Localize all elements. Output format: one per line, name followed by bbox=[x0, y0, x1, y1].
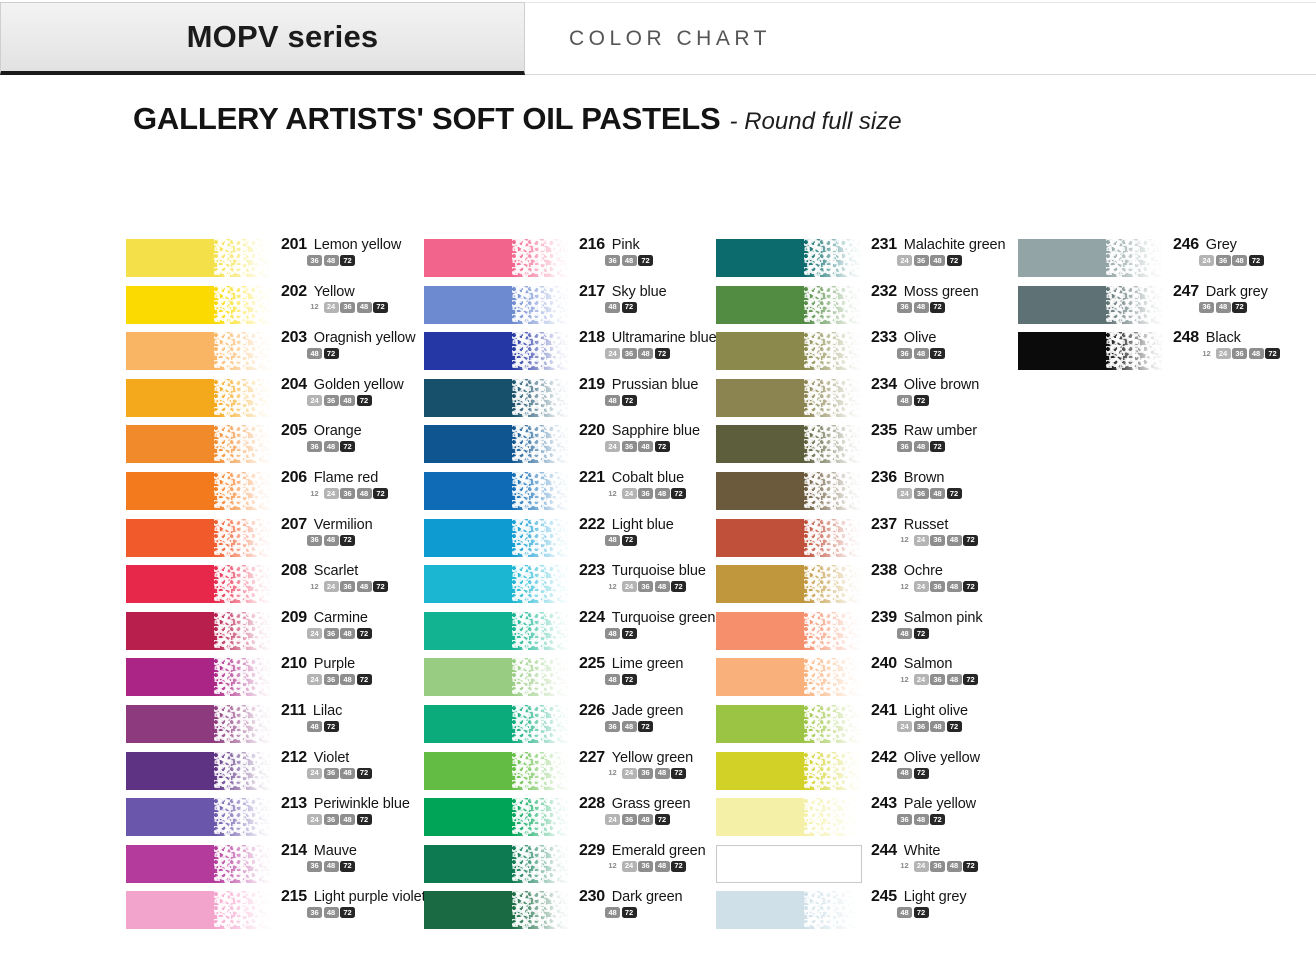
color-code: 222 bbox=[579, 516, 605, 534]
color-swatch bbox=[424, 519, 570, 557]
set-badge-72: 72 bbox=[340, 535, 355, 546]
set-badge-72: 72 bbox=[930, 302, 945, 313]
set-badge-48: 48 bbox=[897, 907, 912, 918]
set-size-badges: 1224364872 bbox=[871, 674, 1041, 685]
set-badge-24: 24 bbox=[897, 255, 912, 266]
set-badge-72: 72 bbox=[671, 861, 686, 872]
color-swatch bbox=[716, 472, 862, 510]
color-row[interactable]: 203Oragnish yellow4872 bbox=[126, 329, 426, 376]
color-row[interactable]: 221Cobalt blue1224364872 bbox=[424, 469, 724, 516]
color-row[interactable]: 220Sapphire blue24364872 bbox=[424, 422, 724, 469]
color-row[interactable]: 219Prussian blue4872 bbox=[424, 376, 724, 423]
color-meta: 243Pale yellow364872 bbox=[871, 795, 1041, 825]
color-row[interactable]: 235Raw umber364872 bbox=[716, 422, 1016, 469]
color-code: 242 bbox=[871, 749, 897, 767]
color-code: 215 bbox=[281, 888, 307, 906]
color-swatch bbox=[1018, 286, 1164, 324]
color-swatch bbox=[126, 612, 272, 650]
color-row[interactable]: 218Ultramarine blue24364872 bbox=[424, 329, 724, 376]
color-name: Raw umber bbox=[904, 423, 977, 439]
color-name: Oragnish yellow bbox=[314, 330, 416, 346]
color-row[interactable]: 244White1224364872 bbox=[716, 842, 1016, 889]
set-badge-36: 36 bbox=[1199, 302, 1214, 313]
color-swatch bbox=[126, 286, 272, 324]
color-row[interactable]: 205Orange364872 bbox=[126, 422, 426, 469]
set-badge-72: 72 bbox=[622, 302, 637, 313]
color-row[interactable]: 246Grey24364872 bbox=[1018, 236, 1316, 283]
set-badge-48: 48 bbox=[357, 581, 372, 592]
color-code: 210 bbox=[281, 655, 307, 673]
color-name: Lemon yellow bbox=[314, 237, 401, 253]
set-badge-36: 36 bbox=[307, 535, 322, 546]
color-name: Yellow green bbox=[612, 750, 693, 766]
set-badge-48: 48 bbox=[914, 302, 929, 313]
color-row[interactable]: 245Light grey4872 bbox=[716, 888, 1016, 935]
color-name: Turquoise blue bbox=[612, 563, 706, 579]
set-badge-48: 48 bbox=[605, 302, 620, 313]
color-swatch bbox=[126, 519, 272, 557]
set-badge-36: 36 bbox=[605, 255, 620, 266]
color-swatch bbox=[716, 519, 862, 557]
color-meta: 236Brown24364872 bbox=[871, 469, 1041, 499]
color-title-line: 237Russet bbox=[871, 516, 1041, 534]
set-size-badges: 1224364872 bbox=[871, 535, 1041, 546]
color-name: Sky blue bbox=[612, 284, 667, 300]
color-row[interactable]: 247Dark grey364872 bbox=[1018, 283, 1316, 330]
swatch-stipple-edge bbox=[214, 565, 272, 603]
color-row[interactable]: 201Lemon yellow364872 bbox=[126, 236, 426, 283]
set-badge-36: 36 bbox=[638, 581, 653, 592]
color-row[interactable]: 242Olive yellow4872 bbox=[716, 749, 1016, 796]
color-title-line: 244White bbox=[871, 842, 1041, 860]
color-swatch bbox=[716, 845, 862, 883]
tab-mopv-series[interactable]: MOPV series bbox=[0, 2, 525, 75]
set-badge-72: 72 bbox=[340, 907, 355, 918]
color-row[interactable]: 215Light purple violet364872 bbox=[126, 888, 426, 935]
set-badge-48: 48 bbox=[324, 861, 339, 872]
set-badge-24: 24 bbox=[605, 441, 620, 452]
set-badge-48: 48 bbox=[1249, 348, 1264, 359]
set-badge-36: 36 bbox=[340, 302, 355, 313]
color-row[interactable]: 226Jade green364872 bbox=[424, 702, 724, 749]
set-badge-72: 72 bbox=[622, 674, 637, 685]
set-badge-72: 72 bbox=[1232, 302, 1247, 313]
tab-color-chart[interactable]: COLOR CHART bbox=[525, 2, 1316, 75]
set-badge-48: 48 bbox=[605, 395, 620, 406]
set-badge-72: 72 bbox=[963, 535, 978, 546]
set-size-badges: 4872 bbox=[871, 768, 1041, 779]
color-swatch bbox=[716, 798, 862, 836]
color-row[interactable]: 237Russet1224364872 bbox=[716, 516, 1016, 563]
swatch-stipple-edge bbox=[214, 379, 272, 417]
color-swatch bbox=[424, 425, 570, 463]
set-badge-36: 36 bbox=[914, 721, 929, 732]
set-badge-36: 36 bbox=[638, 768, 653, 779]
set-badge-48: 48 bbox=[357, 488, 372, 499]
color-swatch bbox=[716, 891, 862, 929]
color-swatch bbox=[126, 798, 272, 836]
swatch-stipple-edge bbox=[512, 845, 570, 883]
color-swatch bbox=[716, 565, 862, 603]
set-size-badges: 364872 bbox=[871, 814, 1041, 825]
set-badge-48: 48 bbox=[947, 535, 962, 546]
color-row[interactable]: 216Pink364872 bbox=[424, 236, 724, 283]
swatch-stipple-edge bbox=[804, 752, 862, 790]
color-code: 244 bbox=[871, 842, 897, 860]
color-row[interactable]: 227Yellow green1224364872 bbox=[424, 749, 724, 796]
set-badge-48: 48 bbox=[1232, 255, 1247, 266]
set-badge-72: 72 bbox=[947, 255, 962, 266]
set-badge-72: 72 bbox=[622, 395, 637, 406]
set-badge-36: 36 bbox=[307, 861, 322, 872]
color-name: Lilac bbox=[313, 703, 342, 719]
set-badge-36: 36 bbox=[897, 441, 912, 452]
color-code: 241 bbox=[871, 702, 897, 720]
color-row[interactable]: 209Carmine24364872 bbox=[126, 609, 426, 656]
set-badge-36: 36 bbox=[1216, 255, 1231, 266]
swatch-stipple-edge bbox=[214, 752, 272, 790]
color-meta: 244White1224364872 bbox=[871, 842, 1041, 872]
tab-color-chart-label: COLOR CHART bbox=[525, 27, 771, 51]
set-badge-72: 72 bbox=[671, 488, 686, 499]
color-row[interactable]: 236Brown24364872 bbox=[716, 469, 1016, 516]
color-row[interactable]: 223Turquoise blue1224364872 bbox=[424, 562, 724, 609]
color-swatch bbox=[424, 565, 570, 603]
color-swatch bbox=[126, 379, 272, 417]
set-badge-48: 48 bbox=[605, 907, 620, 918]
color-swatch bbox=[424, 379, 570, 417]
set-badge-48: 48 bbox=[605, 535, 620, 546]
set-badge-24: 24 bbox=[914, 861, 929, 872]
color-row[interactable]: 231Malachite green24364872 bbox=[716, 236, 1016, 283]
set-badge-72: 72 bbox=[963, 581, 978, 592]
set-badge-36: 36 bbox=[930, 581, 945, 592]
color-code: 211 bbox=[281, 702, 306, 720]
set-size-badges: 1224364872 bbox=[1173, 348, 1316, 359]
set-badge-72: 72 bbox=[357, 674, 372, 685]
swatch-stipple-edge bbox=[214, 658, 272, 696]
color-swatch bbox=[424, 845, 570, 883]
color-swatch bbox=[126, 425, 272, 463]
set-size-badges: 4872 bbox=[871, 395, 1041, 406]
color-code: 223 bbox=[579, 562, 605, 580]
color-row[interactable]: 224Turquoise green4872 bbox=[424, 609, 724, 656]
color-meta: 232Moss green364872 bbox=[871, 283, 1041, 313]
set-badge-48: 48 bbox=[605, 674, 620, 685]
swatch-stipple-edge bbox=[214, 519, 272, 557]
color-code: 203 bbox=[281, 329, 307, 347]
set-badge-72: 72 bbox=[930, 441, 945, 452]
set-size-badges: 364872 bbox=[1173, 302, 1316, 313]
color-name: Pale yellow bbox=[904, 796, 976, 812]
set-badge-72: 72 bbox=[324, 721, 339, 732]
color-swatch bbox=[716, 332, 862, 370]
set-badge-72: 72 bbox=[324, 348, 339, 359]
page-title: GALLERY ARTISTS' SOFT OIL PASTELS - Roun… bbox=[133, 101, 1233, 145]
color-name: Malachite green bbox=[904, 237, 1006, 253]
swatch-stipple-edge bbox=[804, 891, 862, 929]
color-row[interactable]: 230Dark green4872 bbox=[424, 888, 724, 935]
set-badge-12: 12 bbox=[897, 861, 912, 872]
set-badge-36: 36 bbox=[930, 674, 945, 685]
color-code: 230 bbox=[579, 888, 605, 906]
swatch-stipple-edge bbox=[1106, 332, 1164, 370]
color-meta: 239Salmon pink4872 bbox=[871, 609, 1041, 639]
set-badge-36: 36 bbox=[605, 721, 620, 732]
color-name: Mauve bbox=[314, 843, 357, 859]
color-swatch bbox=[424, 658, 570, 696]
set-badge-36: 36 bbox=[307, 441, 322, 452]
set-badge-72: 72 bbox=[622, 907, 637, 918]
color-code: 239 bbox=[871, 609, 897, 627]
color-name: Emerald green bbox=[612, 843, 706, 859]
color-meta: 246Grey24364872 bbox=[1173, 236, 1316, 266]
color-row[interactable]: 213Periwinkle blue24364872 bbox=[126, 795, 426, 842]
color-row[interactable]: 214Mauve364872 bbox=[126, 842, 426, 889]
color-title-line: 247Dark grey bbox=[1173, 283, 1316, 301]
color-row[interactable]: 241Light olive24364872 bbox=[716, 702, 1016, 749]
set-size-badges: 364872 bbox=[871, 302, 1041, 313]
color-row[interactable]: 229Emerald green1224364872 bbox=[424, 842, 724, 889]
set-badge-36: 36 bbox=[340, 581, 355, 592]
color-meta: 233Olive364872 bbox=[871, 329, 1041, 359]
color-row[interactable]: 243Pale yellow364872 bbox=[716, 795, 1016, 842]
set-badge-36: 36 bbox=[914, 255, 929, 266]
color-name: Vermilion bbox=[314, 517, 373, 533]
color-swatch bbox=[126, 565, 272, 603]
set-badge-24: 24 bbox=[324, 488, 339, 499]
color-code: 219 bbox=[579, 376, 605, 394]
color-code: 217 bbox=[579, 283, 605, 301]
color-row[interactable]: 238Ochre1224364872 bbox=[716, 562, 1016, 609]
color-row[interactable]: 248Black1224364872 bbox=[1018, 329, 1316, 376]
color-row[interactable]: 228Grass green24364872 bbox=[424, 795, 724, 842]
color-name: Olive brown bbox=[904, 377, 979, 393]
set-badge-12: 12 bbox=[605, 861, 620, 872]
color-name: Cobalt blue bbox=[612, 470, 684, 486]
set-badge-48: 48 bbox=[622, 721, 637, 732]
color-swatch bbox=[424, 612, 570, 650]
set-badge-72: 72 bbox=[373, 302, 388, 313]
color-row[interactable]: 204Golden yellow24364872 bbox=[126, 376, 426, 423]
color-row[interactable]: 206Flame red1224364872 bbox=[126, 469, 426, 516]
swatch-stipple-edge bbox=[804, 705, 862, 743]
set-badge-48: 48 bbox=[324, 255, 339, 266]
set-badge-48: 48 bbox=[638, 441, 653, 452]
color-row[interactable]: 210Purple24364872 bbox=[126, 655, 426, 702]
set-badge-72: 72 bbox=[373, 581, 388, 592]
set-badge-72: 72 bbox=[373, 488, 388, 499]
color-name: Light grey bbox=[904, 889, 967, 905]
color-name: Light blue bbox=[612, 517, 674, 533]
color-name: Violet bbox=[314, 750, 349, 766]
swatch-stipple-edge bbox=[214, 286, 272, 324]
set-badge-48: 48 bbox=[655, 861, 670, 872]
color-meta: 237Russet1224364872 bbox=[871, 516, 1041, 546]
color-swatch bbox=[716, 425, 862, 463]
set-badge-48: 48 bbox=[655, 768, 670, 779]
set-size-badges: 4872 bbox=[871, 628, 1041, 639]
set-badge-72: 72 bbox=[638, 255, 653, 266]
color-code: 218 bbox=[579, 329, 605, 347]
color-row[interactable]: 211Lilac4872 bbox=[126, 702, 426, 749]
set-badge-12: 12 bbox=[605, 581, 620, 592]
set-badge-48: 48 bbox=[340, 768, 355, 779]
color-code: 233 bbox=[871, 329, 897, 347]
color-code: 225 bbox=[579, 655, 605, 673]
color-name: Brown bbox=[904, 470, 945, 486]
set-badge-12: 12 bbox=[307, 581, 322, 592]
set-badge-12: 12 bbox=[605, 768, 620, 779]
color-row[interactable]: 239Salmon pink4872 bbox=[716, 609, 1016, 656]
color-code: 238 bbox=[871, 562, 897, 580]
set-badge-24: 24 bbox=[1216, 348, 1231, 359]
set-size-badges: 24364872 bbox=[1173, 255, 1316, 266]
color-name: Light olive bbox=[904, 703, 968, 719]
set-badge-48: 48 bbox=[307, 348, 322, 359]
set-badge-12: 12 bbox=[897, 535, 912, 546]
set-size-badges: 4872 bbox=[871, 907, 1041, 918]
color-swatch bbox=[126, 845, 272, 883]
set-badge-24: 24 bbox=[897, 488, 912, 499]
set-badge-36: 36 bbox=[324, 395, 339, 406]
color-row[interactable]: 202Yellow1224364872 bbox=[126, 283, 426, 330]
set-badge-36: 36 bbox=[324, 814, 339, 825]
color-meta: 248Black1224364872 bbox=[1173, 329, 1316, 359]
color-name: Sapphire blue bbox=[612, 423, 700, 439]
swatch-stipple-edge bbox=[512, 379, 570, 417]
color-code: 209 bbox=[281, 609, 307, 627]
swatch-stipple-edge bbox=[804, 472, 862, 510]
color-row[interactable]: 233Olive364872 bbox=[716, 329, 1016, 376]
color-code: 240 bbox=[871, 655, 897, 673]
set-badge-36: 36 bbox=[340, 488, 355, 499]
color-meta: 247Dark grey364872 bbox=[1173, 283, 1316, 313]
set-badge-36: 36 bbox=[622, 814, 637, 825]
set-badge-72: 72 bbox=[340, 441, 355, 452]
set-badge-72: 72 bbox=[638, 721, 653, 732]
set-badge-72: 72 bbox=[1265, 348, 1280, 359]
set-badge-24: 24 bbox=[622, 581, 637, 592]
color-row[interactable]: 240Salmon1224364872 bbox=[716, 655, 1016, 702]
set-badge-12: 12 bbox=[1199, 348, 1214, 359]
color-name: Flame red bbox=[314, 470, 378, 486]
set-badge-36: 36 bbox=[930, 535, 945, 546]
set-badge-48: 48 bbox=[897, 395, 912, 406]
swatch-stipple-edge bbox=[804, 286, 862, 324]
swatch-stipple-edge bbox=[512, 891, 570, 929]
set-badge-36: 36 bbox=[622, 441, 637, 452]
color-column-3: 231Malachite green24364872232Moss green3… bbox=[716, 236, 1016, 935]
set-badge-36: 36 bbox=[638, 861, 653, 872]
set-badge-36: 36 bbox=[638, 488, 653, 499]
set-badge-24: 24 bbox=[307, 768, 322, 779]
set-badge-72: 72 bbox=[914, 628, 929, 639]
color-code: 227 bbox=[579, 749, 605, 767]
color-swatch bbox=[424, 752, 570, 790]
set-badge-36: 36 bbox=[324, 674, 339, 685]
set-size-badges: 1224364872 bbox=[871, 861, 1041, 872]
swatch-stipple-edge bbox=[1106, 286, 1164, 324]
set-badge-72: 72 bbox=[947, 721, 962, 732]
swatch-stipple-edge bbox=[214, 425, 272, 463]
color-row[interactable]: 225Lime green4872 bbox=[424, 655, 724, 702]
set-badge-48: 48 bbox=[947, 861, 962, 872]
color-meta: 231Malachite green24364872 bbox=[871, 236, 1041, 266]
set-badge-48: 48 bbox=[897, 628, 912, 639]
set-badge-72: 72 bbox=[930, 348, 945, 359]
set-badge-72: 72 bbox=[357, 768, 372, 779]
color-row[interactable]: 208Scarlet1224364872 bbox=[126, 562, 426, 609]
color-row[interactable]: 212Violet24364872 bbox=[126, 749, 426, 796]
set-badge-24: 24 bbox=[307, 814, 322, 825]
color-title-line: 245Light grey bbox=[871, 888, 1041, 906]
color-row[interactable]: 222Light blue4872 bbox=[424, 516, 724, 563]
swatch-stipple-edge bbox=[214, 612, 272, 650]
color-row[interactable]: 234Olive brown4872 bbox=[716, 376, 1016, 423]
color-name: Turquoise green bbox=[612, 610, 716, 626]
set-size-badges: 24364872 bbox=[871, 721, 1041, 732]
set-badge-24: 24 bbox=[914, 581, 929, 592]
swatch-stipple-edge bbox=[804, 332, 862, 370]
set-badge-12: 12 bbox=[897, 674, 912, 685]
color-code: 212 bbox=[281, 749, 307, 767]
set-badge-36: 36 bbox=[1232, 348, 1247, 359]
color-row[interactable]: 207Vermilion364872 bbox=[126, 516, 426, 563]
color-code: 226 bbox=[579, 702, 605, 720]
set-badge-48: 48 bbox=[340, 814, 355, 825]
color-name: Purple bbox=[314, 656, 355, 672]
set-badge-72: 72 bbox=[963, 674, 978, 685]
color-title-line: 231Malachite green bbox=[871, 236, 1041, 254]
set-badge-48: 48 bbox=[638, 814, 653, 825]
set-badge-72: 72 bbox=[622, 535, 637, 546]
page-title-main: GALLERY ARTISTS' SOFT OIL PASTELS bbox=[133, 101, 721, 137]
set-size-badges: 24364872 bbox=[871, 488, 1041, 499]
set-badge-24: 24 bbox=[605, 348, 620, 359]
swatch-stipple-edge bbox=[214, 705, 272, 743]
color-meta: 240Salmon1224364872 bbox=[871, 655, 1041, 685]
color-title-line: 242Olive yellow bbox=[871, 749, 1041, 767]
color-name: Yellow bbox=[314, 284, 355, 300]
color-row[interactable]: 217Sky blue4872 bbox=[424, 283, 724, 330]
color-meta: 234Olive brown4872 bbox=[871, 376, 1041, 406]
set-badge-72: 72 bbox=[914, 395, 929, 406]
swatch-stipple-edge bbox=[804, 798, 862, 836]
color-swatch bbox=[1018, 332, 1164, 370]
swatch-stipple-edge bbox=[512, 658, 570, 696]
swatch-stipple-edge bbox=[804, 565, 862, 603]
set-badge-72: 72 bbox=[622, 628, 637, 639]
color-name: Ochre bbox=[904, 563, 943, 579]
color-meta: 242Olive yellow4872 bbox=[871, 749, 1041, 779]
set-badge-48: 48 bbox=[340, 628, 355, 639]
swatch-stipple-edge bbox=[512, 472, 570, 510]
set-size-badges: 364872 bbox=[871, 348, 1041, 359]
color-code: 243 bbox=[871, 795, 897, 813]
color-name: Golden yellow bbox=[314, 377, 404, 393]
color-name: Ultramarine blue bbox=[612, 330, 717, 346]
color-name: Orange bbox=[314, 423, 362, 439]
set-badge-24: 24 bbox=[897, 721, 912, 732]
color-swatch bbox=[126, 239, 272, 277]
color-row[interactable]: 232Moss green364872 bbox=[716, 283, 1016, 330]
color-column-4: 246Grey24364872247Dark grey364872248Blac… bbox=[1018, 236, 1316, 376]
color-swatch bbox=[716, 239, 862, 277]
color-code: 220 bbox=[579, 422, 605, 440]
header-tabbar: MOPV series COLOR CHART bbox=[0, 0, 1316, 78]
set-badge-36: 36 bbox=[324, 768, 339, 779]
